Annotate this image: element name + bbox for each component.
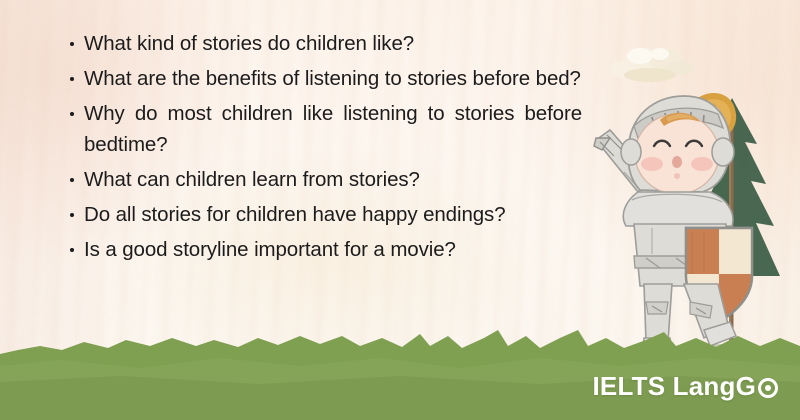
knight-hair (660, 113, 700, 126)
question-text: What kind of stories do children like? (84, 32, 414, 55)
knight-legs (642, 284, 736, 354)
knight-child-illustration (580, 80, 800, 380)
list-item: Do all stories for children have happy e… (62, 199, 582, 230)
list-item: What are the benefits of listening to st… (62, 63, 582, 94)
knight-arm-raised (594, 130, 652, 192)
target-ring-icon (758, 378, 778, 398)
knight-plume-icon (692, 93, 736, 139)
question-text: Is a good storyline important for a movi… (84, 238, 456, 261)
cloud-icon (600, 42, 705, 90)
list-item: Is a good storyline important for a movi… (62, 234, 582, 265)
list-item: What kind of stories do children like? (62, 28, 582, 59)
question-text: Do all stories for children have happy e… (84, 203, 506, 226)
question-text: Why do most children like listening to s… (84, 102, 582, 156)
knight-torso (634, 224, 726, 286)
knight-shoulders (623, 192, 733, 226)
grass-strip (0, 320, 800, 420)
brand-logo: IELTS LangG (593, 371, 779, 402)
brand-logo-text: IELTS LangG (593, 371, 757, 402)
list-item: Why do most children like listening to s… (62, 98, 582, 160)
list-item: What can children learn from stories? (62, 164, 582, 195)
pole-icon (729, 118, 734, 358)
question-list: What kind of stories do children like? W… (62, 28, 582, 269)
question-text: What are the benefits of listening to st… (84, 67, 581, 90)
knight-head (621, 96, 734, 194)
slide-canvas: What kind of stories do children like? W… (0, 0, 800, 420)
knight-shield-icon (686, 228, 752, 322)
question-text: What can children learn from stories? (84, 168, 420, 191)
pine-tree-icon (686, 98, 780, 276)
